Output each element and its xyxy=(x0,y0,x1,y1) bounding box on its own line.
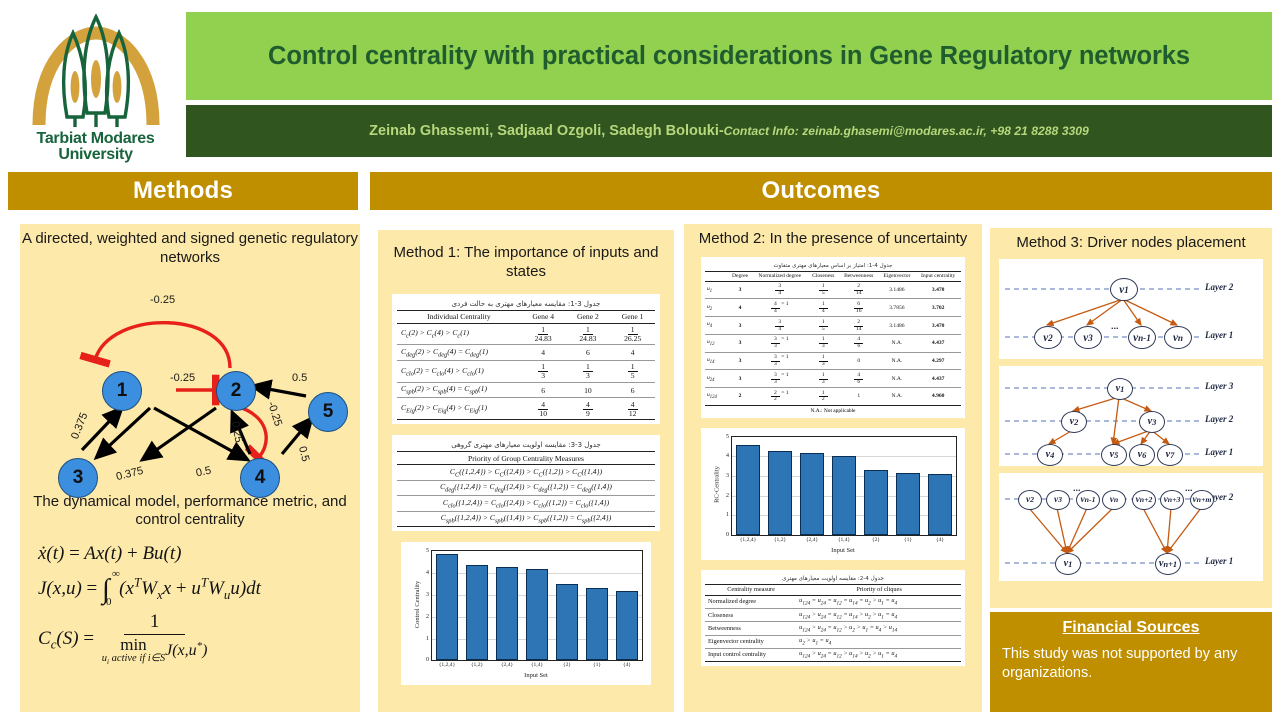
th-priority-cliques: Priority of cliques xyxy=(797,584,961,595)
bar xyxy=(556,584,578,660)
section-banner-outcomes-label: Outcomes xyxy=(762,177,881,205)
logo-text: Tarbiat Modares University xyxy=(37,131,155,163)
graph-node[interactable]: vn xyxy=(1102,490,1126,510)
x-axis-tick: {1} xyxy=(593,662,601,668)
graph-node[interactable]: v7 xyxy=(1157,444,1183,466)
x-axis-label: Input Set xyxy=(731,547,955,554)
cell-r3-g1: 6 xyxy=(610,382,655,398)
th-eigenvector: Eigenvector xyxy=(878,271,915,281)
logo-line-1: Tarbiat Modares xyxy=(37,131,155,147)
layer-label: Layer 1 xyxy=(1205,330,1233,340)
network-caption: A directed, weighted and signed genetic … xyxy=(20,224,360,268)
financial-sources-box: Financial Sources This study was not sup… xyxy=(990,612,1272,712)
table-row: Cclo(2) = Cclo(4) > Cclo(1) 13 13 15 xyxy=(397,360,655,382)
table-header-row: Priority of Group Centrality Measures xyxy=(397,452,655,465)
table-row: Cspb({1,2,4}) > Cspb({1,4}) > Cspb({1,2}… xyxy=(397,511,655,527)
table-row: u14333 = 1130N.A.4.297 xyxy=(705,352,961,370)
graph-node[interactable]: v1 xyxy=(1107,378,1133,400)
x-axis-tick: {4} xyxy=(936,537,944,543)
cell-r4-g2d: 9 xyxy=(583,410,593,418)
section-banner-methods-label: Methods xyxy=(133,177,233,205)
y-axis-tick: 0 xyxy=(426,657,429,663)
network-graph: 1 2 3 4 5 -0.25 -0.25 -0.25 0.375 0.375 … xyxy=(20,268,360,483)
driver-diagram-2: Layer 3Layer 2Layer 1v1v2v3v4v5v6v7 xyxy=(999,366,1263,466)
poster-title-bar: Control centrality with practical consid… xyxy=(186,12,1272,100)
x-axis-tick: {1,2} xyxy=(471,662,483,668)
th-centrality-measure: Centrality measure xyxy=(705,584,797,595)
y-axis-tick: 1 xyxy=(726,512,729,518)
section-banner-outcomes: Outcomes xyxy=(370,172,1272,210)
bar xyxy=(586,588,608,660)
ellipsis-dots: ... xyxy=(1073,483,1081,493)
cell-r0-g2d: 24.83 xyxy=(576,335,599,343)
y-axis-tick: 3 xyxy=(426,592,429,598)
cell-r0-g1d: 26.25 xyxy=(621,335,644,343)
table-row: CC({1,2,4}) > CC({2,4}) > CC({1,2}) > CC… xyxy=(397,465,655,481)
th-gene4: Gene 4 xyxy=(521,310,566,323)
method2-table2: Centrality measure Priority of cliques N… xyxy=(705,584,961,662)
method2-table1-caption: جدول 4-1: امتیاز بر اساس معیارهای مهتری … xyxy=(705,260,961,271)
layer-label: Layer 2 xyxy=(1205,414,1233,424)
method1-table2-caption: جدول 3-3: مقایسه اولویت معیارهای مهتری گ… xyxy=(397,438,655,451)
cell-r4-g4d: 10 xyxy=(536,410,550,418)
x-axis-tick: {2,4} xyxy=(501,662,513,668)
method3-heading: Method 3: Driver nodes placement xyxy=(990,228,1272,253)
table-row: u124222 = 1121N.A.4.960 xyxy=(705,388,961,406)
x-axis-tick: {1,2,4} xyxy=(740,537,757,543)
table-row: u1334152143.14863.478 xyxy=(705,281,961,299)
table-row: u24333 = 11346N.A.4.437 xyxy=(705,370,961,388)
bar xyxy=(864,470,888,535)
graph-node-5[interactable]: 5 xyxy=(308,392,348,432)
graph-node-4-label: 4 xyxy=(255,467,266,489)
table-row: Normalized degreeu124 = u24 = u12 = u14 … xyxy=(705,595,961,608)
table-row: Closenessu124 > u24 = u12 = u14 > u2 > u… xyxy=(705,609,961,622)
authors-line: Zeinab Ghassemi, Sadjaad Ozgoli, Sadegh … xyxy=(369,123,1089,139)
method2-table1-footnote: N.A.: Not applicable xyxy=(705,406,961,414)
bar xyxy=(896,473,920,535)
method1-panel: Method 1: The importance of inputs and s… xyxy=(378,230,674,712)
y-axis-label: Control Centrality xyxy=(414,550,421,659)
cell-r1-g4: 4 xyxy=(521,345,566,361)
authors-bar: Zeinab Ghassemi, Sadjaad Ozgoli, Sadegh … xyxy=(186,105,1272,157)
x-axis-tick: {1,4} xyxy=(531,662,543,668)
y-axis-tick: 1 xyxy=(426,636,429,642)
cell-r4-g1d: 12 xyxy=(626,410,640,418)
method2-table1: Degree Normalized degree Closeness Betwe… xyxy=(705,271,961,406)
y-axis-tick: 3 xyxy=(726,473,729,479)
bar xyxy=(768,451,792,535)
logo-artwork-icon xyxy=(21,13,171,131)
x-axis-tick: {1,2,4} xyxy=(439,662,456,668)
y-axis-tick: 0 xyxy=(726,532,729,538)
y-axis-tick: 4 xyxy=(426,570,429,576)
method3-panel: Method 3: Driver nodes placement Layer 2… xyxy=(990,228,1272,608)
bar xyxy=(832,456,856,534)
table-row: u12333 = 11346N.A.4.437 xyxy=(705,334,961,352)
contact-info: Contact Info: zeinab.ghasemi@modares.ac.… xyxy=(724,124,1089,138)
cell-r3-g4: 6 xyxy=(521,382,566,398)
edge-label-8: 0.5 xyxy=(292,372,307,384)
equation-centrality: Cc(S) = 1 min ui active if i∈S J(x,u*) xyxy=(38,612,346,667)
x-axis-tick: {2} xyxy=(563,662,571,668)
y-axis-tick: 5 xyxy=(726,434,729,440)
bar xyxy=(466,565,488,661)
graph-node[interactable]: v2 xyxy=(1061,411,1087,433)
x-axis-tick: {1,2} xyxy=(774,537,786,543)
table-row: Cdeg(2) > Cdeg(4) = Cdeg(1) 4 6 4 xyxy=(397,345,655,361)
table-row: Eigenvector centralityu2 > u1 = u4 xyxy=(705,635,961,648)
driver-diagram-3: Layer 2Layer 1v2v3vn-1vnvn+2vn+3vn+mv1vn… xyxy=(999,473,1263,581)
cell-r1-g1: 4 xyxy=(610,345,655,361)
table-header-row: Degree Normalized degree Closeness Betwe… xyxy=(705,271,961,281)
th-closeness: Closeness xyxy=(808,271,839,281)
table-row: CEig(2) > CEig(4) > CEig(1) 410 49 412 xyxy=(397,398,655,420)
graph-node-1-label: 1 xyxy=(117,380,128,402)
bar xyxy=(526,569,548,661)
x-axis-tick: {2} xyxy=(872,537,880,543)
method1-table2-card: جدول 3-3: مقایسه اولویت معیارهای مهتری گ… xyxy=(392,435,660,531)
method1-table1-card: جدول 3-1: مقایسه معیارهای مهتری به حالت … xyxy=(392,294,660,425)
financial-heading: Financial Sources xyxy=(990,612,1272,637)
graph-node[interactable]: v3 xyxy=(1139,411,1165,433)
author-names: Zeinab Ghassemi, Sadjaad Ozgoli, Sadegh … xyxy=(369,123,724,139)
chart-plot-area: 012345{1,2,4}{1,2}{2,4}{1,4}{2}{1}{4} xyxy=(431,550,643,661)
cell-r1-g2: 6 xyxy=(566,345,611,361)
graph-node[interactable]: v1 xyxy=(1055,553,1081,575)
layer-label: Layer 1 xyxy=(1205,556,1233,566)
graph-node[interactable]: vn+3 xyxy=(1160,490,1184,510)
th-individual-centrality: Individual Centrality xyxy=(397,310,521,323)
bar xyxy=(928,474,952,534)
method2-heading: Method 2: In the presence of uncertainty xyxy=(684,224,982,249)
graph-node[interactable]: v4 xyxy=(1037,444,1063,466)
bar xyxy=(616,591,638,661)
method1-table2: Priority of Group Centrality Measures CC… xyxy=(397,451,655,527)
table-row: u4334152143.14863.470 xyxy=(705,317,961,335)
logo-line-2: University xyxy=(37,147,155,163)
graph-node[interactable]: v5 xyxy=(1101,444,1127,466)
poster-root: Tarbiat Modares University Control centr… xyxy=(0,0,1280,720)
y-axis-tick: 5 xyxy=(426,548,429,554)
integral-icon: ∫∞0 xyxy=(102,574,110,606)
graph-node[interactable]: v6 xyxy=(1129,444,1155,466)
bar xyxy=(436,554,458,661)
table-header-row: Individual Centrality Gene 4 Gene 2 Gene… xyxy=(397,310,655,323)
table-row: Cspb(2) > Cspb(4) = Cspb(1) 6 10 6 xyxy=(397,382,655,398)
layer-label: Layer 3 xyxy=(1205,381,1233,391)
graph-node-1[interactable]: 1 xyxy=(102,371,142,411)
edge-label-5: 0.5 xyxy=(195,464,212,479)
graph-node-2-label: 2 xyxy=(231,380,242,402)
graph-node[interactable]: vn+1 xyxy=(1155,553,1181,575)
methods-panel: A directed, weighted and signed genetic … xyxy=(20,224,360,712)
equation-state: ẋ(t) = Ax(t) + Bu(t) xyxy=(38,543,346,565)
graph-node[interactable]: vn+2 xyxy=(1132,490,1156,510)
edge-label-0: -0.25 xyxy=(150,294,175,306)
table-row: Input control centralityu124 > u24 = u12… xyxy=(705,648,961,661)
method1-heading: Method 1: The importance of inputs and s… xyxy=(378,230,674,282)
ellipsis-dots: ... xyxy=(1111,321,1119,331)
cell-r2-g2d: 3 xyxy=(583,372,593,380)
table-row: u2444 = 1146163.78563.702 xyxy=(705,299,961,317)
x-axis-label: Input Set xyxy=(431,672,641,679)
equation-cost: J(x,u) = ∫∞0 (xTWxx + uTWuu)dt xyxy=(38,574,346,606)
x-axis-tick: {2,4} xyxy=(806,537,818,543)
control-centrality-chart: 012345{1,2,4}{1,2}{2,4}{1,4}{2}{1}{4}Inp… xyxy=(401,542,651,685)
x-axis-tick: {1,4} xyxy=(838,537,850,543)
y-axis-tick: 2 xyxy=(726,493,729,499)
method2-table1-card: جدول 4-1: امتیاز بر اساس معیارهای مهتری … xyxy=(701,257,965,418)
graph-node-4[interactable]: 4 xyxy=(240,458,280,498)
rc-centrality-chart: 012345{1,2,4}{1,2}{2,4}{1,4}{2}{1}{4}Inp… xyxy=(701,428,965,560)
th-normalized-degree: Normalized degree xyxy=(752,271,808,281)
poster-title: Control centrality with practical consid… xyxy=(268,42,1190,71)
table-header-row: Centrality measure Priority of cliques xyxy=(705,584,961,595)
table-row: Cclo({1,2,4}) = Cclo({2,4}) > Cclo({1,2}… xyxy=(397,496,655,512)
chart-plot-area: 012345{1,2,4}{1,2}{2,4}{1,4}{2}{1}{4} xyxy=(731,436,957,536)
graph-node-3-label: 3 xyxy=(73,467,84,489)
method1-table1: Individual Centrality Gene 4 Gene 2 Gene… xyxy=(397,310,655,421)
method1-table1-caption: جدول 3-1: مقایسه معیارهای مهتری به حالت … xyxy=(397,297,655,310)
equations-block: ẋ(t) = Ax(t) + Bu(t) J(x,u) = ∫∞0 (xTWxx… xyxy=(20,530,360,667)
layer-label: Layer 2 xyxy=(1205,282,1233,292)
section-banner-methods: Methods xyxy=(8,172,358,210)
y-axis-tick: 2 xyxy=(426,614,429,620)
x-axis-tick: {4} xyxy=(623,662,631,668)
graph-node[interactable]: vn+m xyxy=(1190,490,1214,510)
th-input-centrality: Input centrality xyxy=(915,271,961,281)
method2-table2-card: جدول 4-2: مقایسه اولویت معیارهای مهتری C… xyxy=(701,570,965,666)
cell-r3-g2: 10 xyxy=(566,382,611,398)
th-gene2: Gene 2 xyxy=(566,310,611,323)
method2-table2-caption: جدول 4-2: مقایسه اولویت معیارهای مهتری xyxy=(705,573,961,584)
cell-r2-g1d: 5 xyxy=(628,372,638,380)
cell-r2-g4d: 3 xyxy=(538,372,548,380)
graph-node-5-label: 5 xyxy=(323,401,334,423)
th-gene1: Gene 1 xyxy=(610,310,655,323)
method2-panel: Method 2: In the presence of uncertainty… xyxy=(684,224,982,712)
cell-r0-g4d: 24.83 xyxy=(532,335,555,343)
ellipsis-dots: ... xyxy=(1185,483,1193,493)
graph-node-2[interactable]: 2 xyxy=(216,371,256,411)
y-axis-label: RC-Centrality xyxy=(714,435,721,533)
th-priority-group: Priority of Group Centrality Measures xyxy=(397,452,655,465)
financial-text: This study was not supported by any orga… xyxy=(990,637,1272,683)
graph-node[interactable]: v2 xyxy=(1018,490,1042,510)
th-betweenness: Betweenness xyxy=(839,271,879,281)
bar xyxy=(800,453,824,535)
edge-label-1: -0.25 xyxy=(170,372,195,384)
graph-node-3[interactable]: 3 xyxy=(58,458,98,498)
layer-label: Layer 1 xyxy=(1205,447,1233,457)
driver-diagram-1: Layer 2Layer 1v1v2v3vn-1vn... xyxy=(999,259,1263,359)
graph-node[interactable]: v3 xyxy=(1046,490,1070,510)
y-axis-tick: 4 xyxy=(726,453,729,459)
bar xyxy=(736,445,760,535)
university-logo: Tarbiat Modares University xyxy=(8,8,183,163)
th-degree: Degree xyxy=(728,271,752,281)
table-row: Cdeg({1,2,4}) = Cdeg({2,4}) > Cdeg({1,2}… xyxy=(397,480,655,496)
bar xyxy=(496,567,518,661)
table-row: Betweennessu124 > u24 = u12 > u2 > u1 = … xyxy=(705,622,961,635)
x-axis-tick: {1} xyxy=(904,537,912,543)
table-row: Cc(2) > Cc(4) > Cc(1) 124.83 124.83 126.… xyxy=(397,323,655,345)
